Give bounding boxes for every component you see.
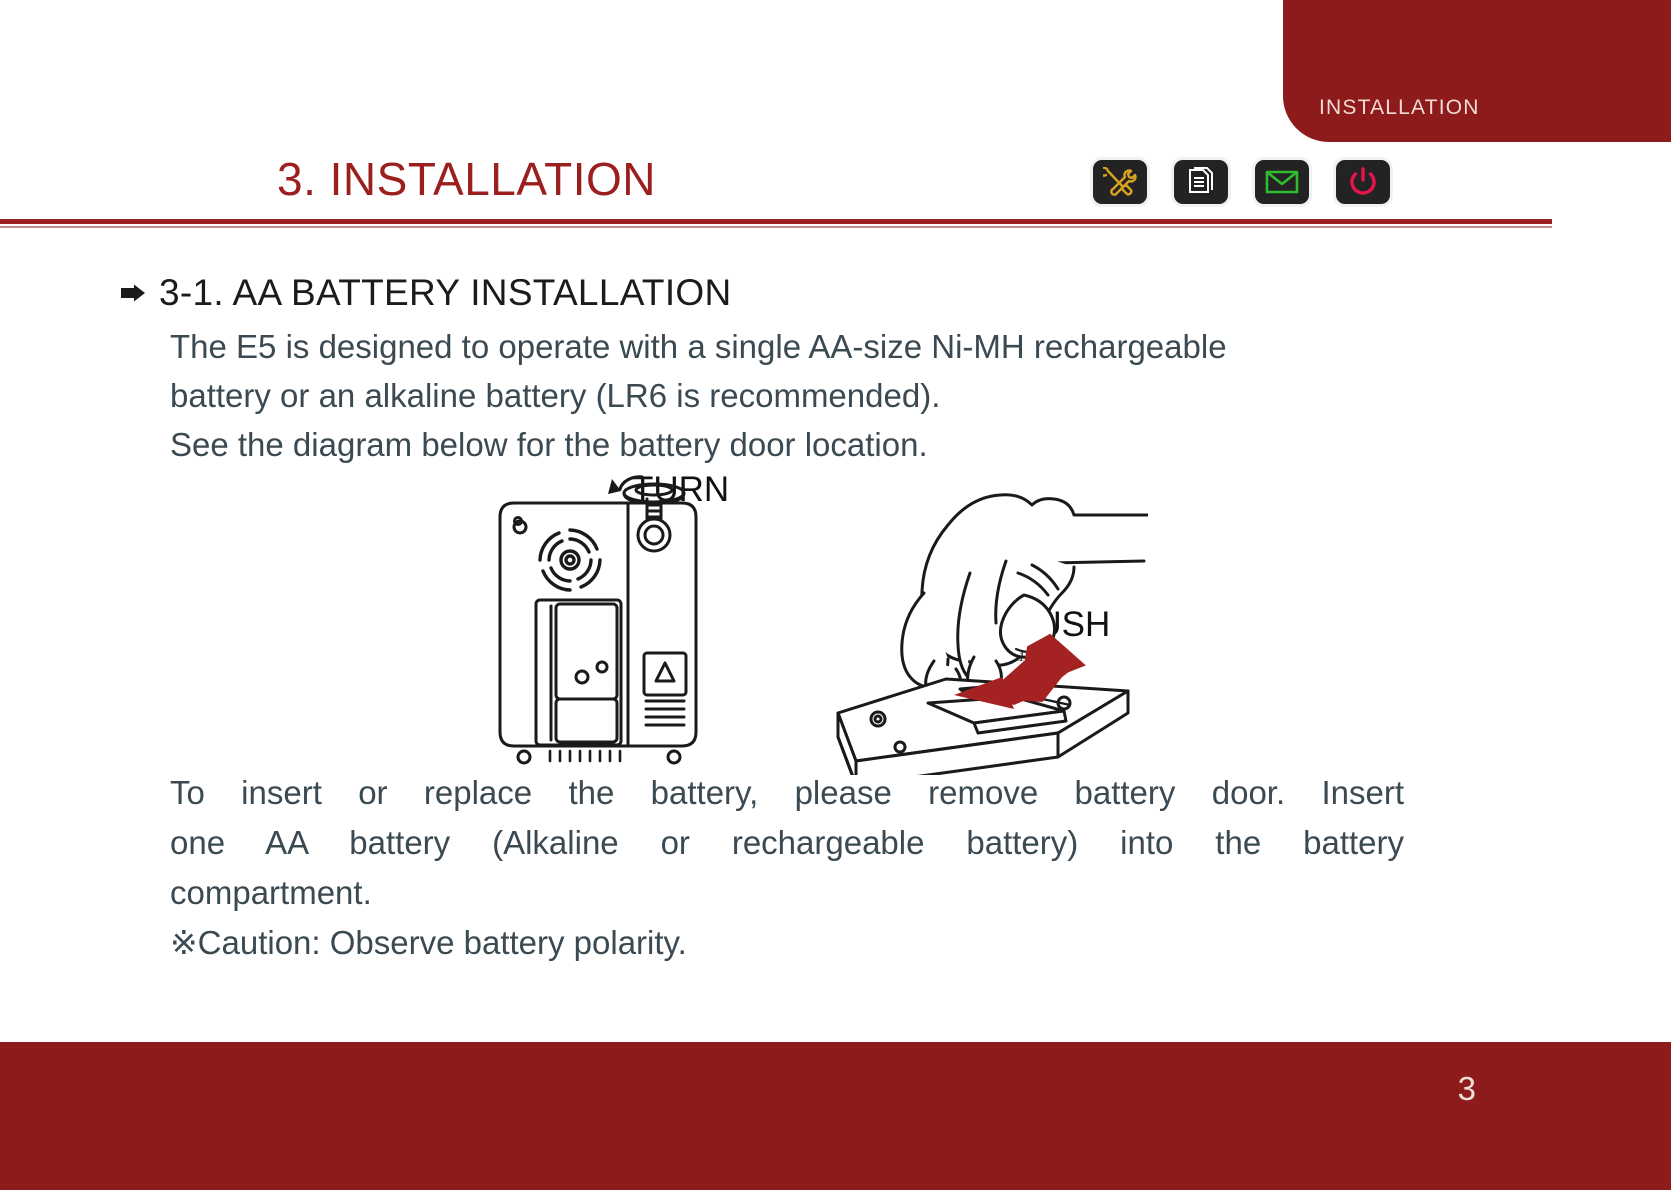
body-line: To insert or replace the battery, please… bbox=[170, 768, 1404, 818]
intro-paragraph: The E5 is designed to operate with a sin… bbox=[170, 322, 1415, 469]
intro-line: battery or an alkaline battery (LR6 is r… bbox=[170, 371, 1415, 420]
power-icon-glyph bbox=[1349, 167, 1377, 197]
document-icon-glyph bbox=[1185, 166, 1217, 198]
triangle-right-icon bbox=[120, 284, 146, 302]
page-title: 3. INSTALLATION bbox=[277, 152, 656, 206]
body-line: one AA battery (Alkaline or rechargeable… bbox=[170, 818, 1404, 868]
section-heading: 3-1. AA BATTERY INSTALLATION bbox=[159, 272, 732, 314]
body-paragraph: To insert or replace the battery, please… bbox=[170, 768, 1404, 968]
footer-bar: 3 bbox=[0, 1042, 1671, 1190]
tools-icon[interactable] bbox=[1093, 160, 1147, 204]
title-icon-group bbox=[1093, 160, 1390, 204]
title-row: 3. INSTALLATION bbox=[0, 152, 1671, 218]
device-back-diagram bbox=[478, 465, 768, 770]
tools-icon-glyph bbox=[1103, 167, 1137, 197]
header-tab-label: INSTALLATION bbox=[1319, 96, 1480, 120]
page-number: 3 bbox=[1458, 1070, 1476, 1108]
caution-line: ※Caution: Observe battery polarity. bbox=[170, 918, 1404, 968]
mail-icon[interactable] bbox=[1255, 160, 1309, 204]
hand-push-diagram: 1 bbox=[828, 465, 1148, 775]
body-line: compartment. bbox=[170, 868, 1404, 918]
intro-line: See the diagram below for the battery do… bbox=[170, 420, 1415, 469]
header-accent-tab: INSTALLATION bbox=[1283, 0, 1671, 142]
document-icon[interactable] bbox=[1174, 160, 1228, 204]
figure-group: TURN PUSH bbox=[0, 465, 1671, 785]
section-heading-row: 3-1. AA BATTERY INSTALLATION bbox=[120, 272, 732, 314]
intro-line: The E5 is designed to operate with a sin… bbox=[170, 322, 1415, 371]
power-icon[interactable] bbox=[1336, 160, 1390, 204]
title-rule-thin bbox=[0, 226, 1552, 228]
title-rule-thick bbox=[0, 219, 1552, 224]
mail-icon-glyph bbox=[1265, 170, 1299, 194]
